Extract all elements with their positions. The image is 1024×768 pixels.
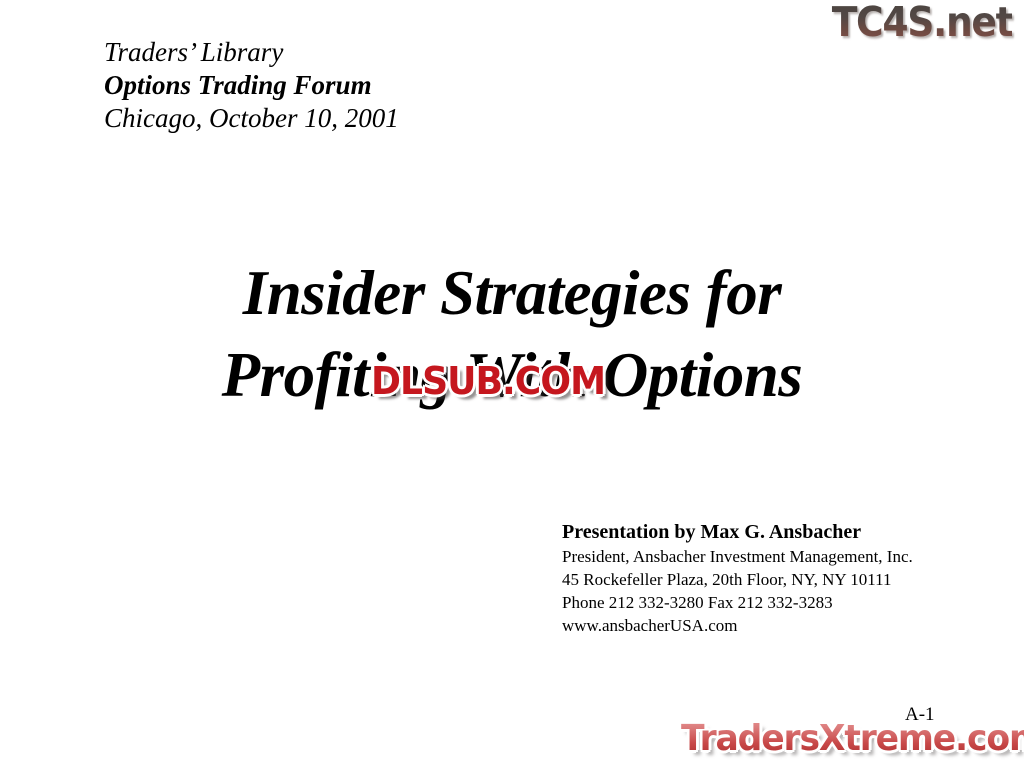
presenter-website: www.ansbacherUSA.com (562, 614, 982, 637)
header-block: Traders’ Library Options Trading Forum C… (104, 36, 664, 135)
header-line-location-date: Chicago, October 10, 2001 (104, 102, 664, 135)
tc4s-brand-logo: TC4S.net (831, 1, 1012, 43)
presenter-address: 45 Rockefeller Plaza, 20th Floor, NY, NY… (562, 568, 982, 591)
header-line-event: Options Trading Forum (104, 69, 664, 102)
title-line-1: Insider Strategies for (0, 252, 1024, 334)
dlsub-watermark: DLSUB.COM (371, 358, 605, 404)
presentation-slide: TC4S.net Traders’ Library Options Tradin… (0, 0, 1024, 768)
presenter-phone-fax: Phone 212 332-3280 Fax 212 332-3283 (562, 591, 982, 614)
header-line-organization: Traders’ Library (104, 36, 664, 69)
tradersxtreme-footer-logo: TradersXtreme.com TradersXtreme.com (681, 718, 1024, 760)
presenter-block: Presentation by Max G. Ansbacher Preside… (562, 519, 982, 637)
tradersxtreme-footer-logo-fill: TradersXtreme.com (681, 718, 1024, 759)
presenter-name: Presentation by Max G. Ansbacher (562, 519, 982, 545)
presenter-title-company: President, Ansbacher Investment Manageme… (562, 545, 982, 568)
